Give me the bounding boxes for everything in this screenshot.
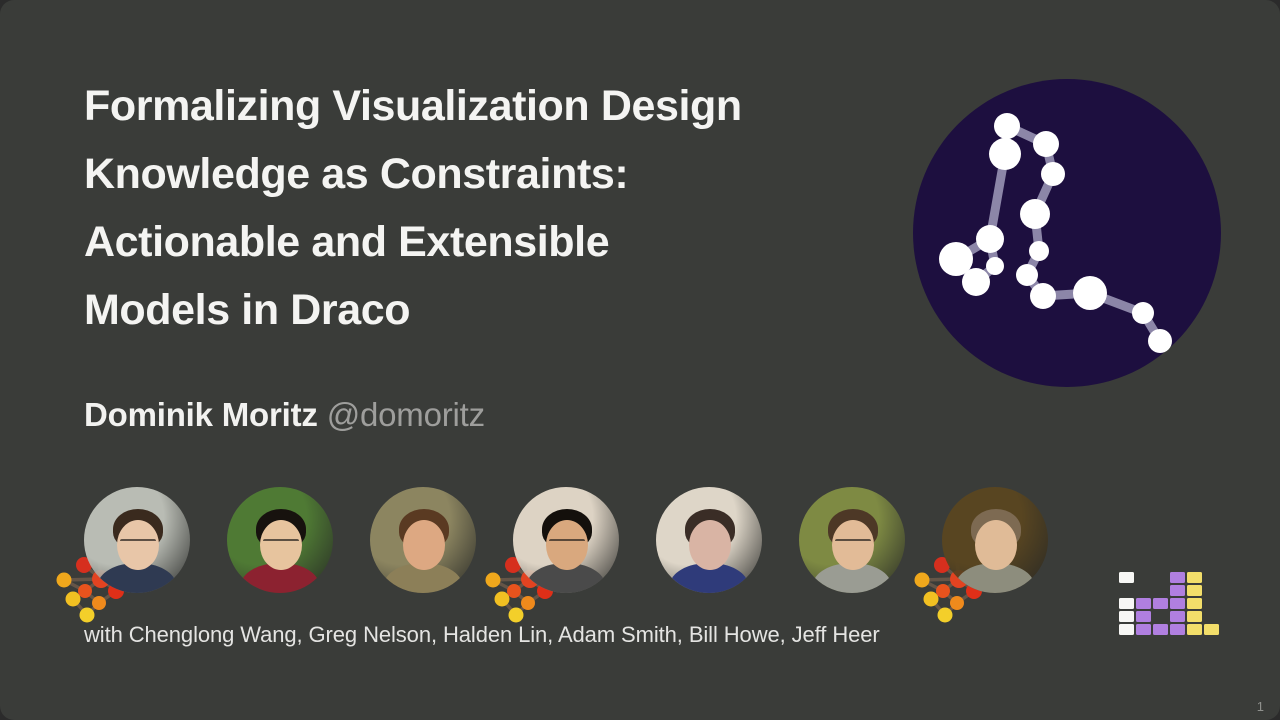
glasses-icon bbox=[120, 539, 156, 550]
avatar-halden-lin bbox=[513, 487, 619, 593]
constellation-star-s10 bbox=[1016, 264, 1038, 286]
molecule-node-9 bbox=[92, 596, 106, 610]
avatar-photo bbox=[370, 487, 476, 593]
idl-cell-1-4 bbox=[1136, 624, 1151, 635]
avatar-jeff-heer bbox=[942, 487, 1048, 593]
idl-cell-1-3 bbox=[1136, 611, 1151, 622]
author-name: Dominik Moritz bbox=[84, 396, 318, 433]
constellation-star-s2 bbox=[1033, 131, 1059, 157]
constellation-star-s4 bbox=[1020, 199, 1050, 229]
idl-cell-2-2 bbox=[1153, 598, 1168, 609]
title-line-1: Formalizing Visualization Design bbox=[84, 72, 884, 140]
molecule-node-8 bbox=[924, 592, 939, 607]
glasses-icon bbox=[263, 539, 299, 550]
avatar-bill-howe bbox=[799, 487, 905, 593]
avatar-chenglong-wang bbox=[227, 487, 333, 593]
glasses-icon bbox=[835, 539, 871, 550]
idl-cell-1-2 bbox=[1136, 598, 1151, 609]
avatar-dominik-moritz bbox=[84, 487, 190, 593]
avatar-photo bbox=[227, 487, 333, 593]
presentation-slide: Formalizing Visualization Design Knowled… bbox=[0, 0, 1280, 720]
constellation-star-s3 bbox=[1041, 162, 1065, 186]
avatar-adam-smith bbox=[656, 487, 762, 593]
constellation-star-s0 bbox=[994, 113, 1020, 139]
draco-circle-background bbox=[913, 79, 1221, 387]
molecule-node-8 bbox=[66, 592, 81, 607]
author-handle[interactable]: @domoritz bbox=[327, 396, 485, 433]
idl-cell-0-3 bbox=[1119, 611, 1134, 622]
avatar-face bbox=[403, 520, 445, 570]
avatar-row bbox=[84, 487, 1084, 595]
idl-cell-4-0 bbox=[1187, 572, 1202, 583]
constellation-star-s11 bbox=[1030, 283, 1056, 309]
title-line-2: Knowledge as Constraints: bbox=[84, 140, 884, 208]
idl-cell-4-2 bbox=[1187, 598, 1202, 609]
avatar-greg-nelson bbox=[370, 487, 476, 593]
molecule-node-10 bbox=[938, 608, 953, 623]
page-title: Formalizing Visualization Design Knowled… bbox=[84, 72, 884, 344]
idl-cell-0-0 bbox=[1119, 572, 1134, 583]
idl-cell-0-4 bbox=[1119, 624, 1134, 635]
idl-cell-3-3 bbox=[1170, 611, 1185, 622]
idl-cell-4-3 bbox=[1187, 611, 1202, 622]
molecule-node-9 bbox=[950, 596, 964, 610]
draco-constellation-logo bbox=[913, 79, 1221, 387]
constellation-star-s7 bbox=[986, 257, 1004, 275]
avatar-photo bbox=[799, 487, 905, 593]
idl-cell-0-2 bbox=[1119, 598, 1134, 609]
idl-cell-4-4 bbox=[1187, 624, 1202, 635]
idl-cell-4-1 bbox=[1187, 585, 1202, 596]
idl-cell-3-2 bbox=[1170, 598, 1185, 609]
idl-cell-3-1 bbox=[1170, 585, 1185, 596]
title-line-3: Actionable and Extensible bbox=[84, 208, 884, 276]
constellation-star-s5 bbox=[976, 225, 1004, 253]
constellation-star-s13 bbox=[1132, 302, 1154, 324]
idl-cell-2-4 bbox=[1153, 624, 1168, 635]
idl-cell-3-0 bbox=[1170, 572, 1185, 583]
avatar-photo bbox=[656, 487, 762, 593]
molecule-node-5 bbox=[486, 573, 501, 588]
molecule-node-5 bbox=[915, 573, 930, 588]
avatar-photo bbox=[942, 487, 1048, 593]
avatar-photo bbox=[513, 487, 619, 593]
constellation-star-s1 bbox=[989, 138, 1021, 170]
avatar-face bbox=[975, 520, 1017, 570]
molecule-node-9 bbox=[521, 596, 535, 610]
constellation-star-s14 bbox=[1148, 329, 1172, 353]
collaborators-line: with Chenglong Wang, Greg Nelson, Halden… bbox=[84, 622, 880, 648]
avatar-photo bbox=[84, 487, 190, 593]
molecule-node-8 bbox=[495, 592, 510, 607]
avatar-face bbox=[689, 520, 731, 570]
page-number: 1 bbox=[1257, 699, 1264, 714]
idl-cell-5-4 bbox=[1204, 624, 1219, 635]
constellation-star-s12 bbox=[1073, 276, 1107, 310]
molecule-node-10 bbox=[509, 608, 524, 623]
idl-pixel-logo bbox=[1119, 572, 1223, 640]
glasses-icon bbox=[549, 539, 585, 550]
molecule-node-5 bbox=[57, 573, 72, 588]
title-line-4: Models in Draco bbox=[84, 276, 884, 344]
author-line: Dominik Moritz@domoritz bbox=[84, 396, 485, 434]
constellation-star-s9 bbox=[1029, 241, 1049, 261]
constellation-star-s8 bbox=[962, 268, 990, 296]
idl-cell-3-4 bbox=[1170, 624, 1185, 635]
molecule-node-10 bbox=[80, 608, 95, 623]
